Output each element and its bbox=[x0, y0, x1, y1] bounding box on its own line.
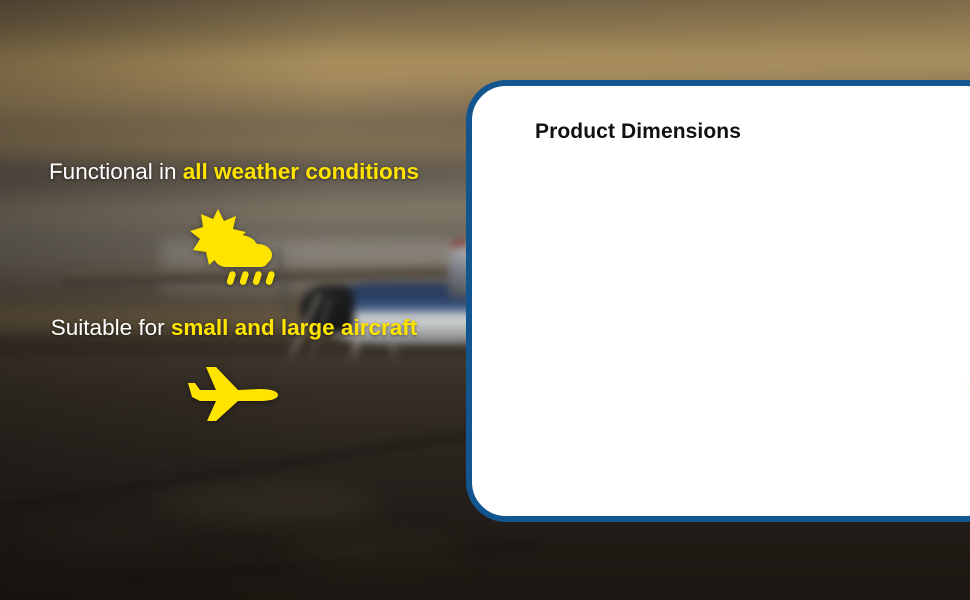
feature-list: Functional in all weather conditions bbox=[0, 0, 468, 600]
feature-headline: Suitable for small and large aircraft bbox=[0, 316, 468, 341]
feature-headline: Functional in all weather conditions bbox=[0, 160, 468, 185]
feature-headline-highlight: all weather conditions bbox=[183, 159, 419, 184]
feature-headline-plain: Suitable for bbox=[51, 315, 171, 340]
product-feature-banner: Functional in all weather conditions bbox=[0, 0, 970, 600]
product-dimensions-panel bbox=[466, 80, 970, 522]
feature-item-aircraft-size: Suitable for small and large aircraft bbox=[0, 316, 468, 421]
sun-behind-rain-cloud-icon bbox=[0, 203, 468, 287]
airplane-icon bbox=[0, 359, 468, 421]
panel-title: Product Dimensions bbox=[535, 120, 741, 144]
feature-headline-highlight: small and large aircraft bbox=[171, 315, 417, 340]
feature-item-all-weather: Functional in all weather conditions bbox=[0, 160, 468, 287]
feature-headline-plain: Functional in bbox=[49, 159, 183, 184]
